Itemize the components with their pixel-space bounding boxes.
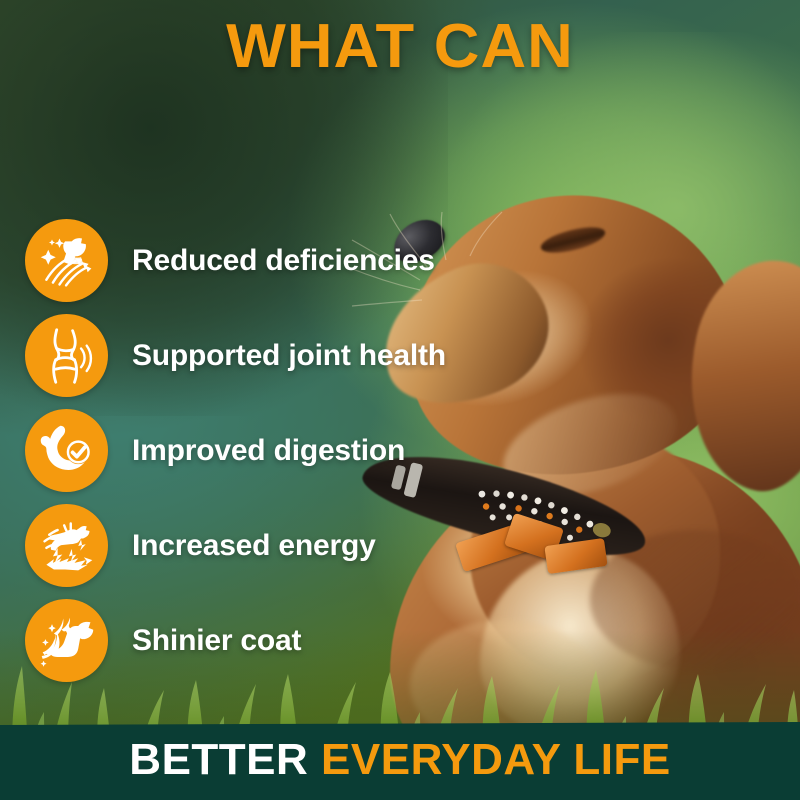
benefit-label: Reduced deficiencies: [132, 244, 435, 278]
benefit-badge: [25, 314, 108, 397]
knee-joint-bone-icon: [37, 326, 97, 386]
benefit-row[interactable]: Supported joint health: [25, 308, 545, 403]
benefit-badge: [25, 409, 108, 492]
benefit-badge: [25, 599, 108, 682]
dog-head-upward-arrows-sparkles-icon: [37, 231, 97, 291]
stomach-checkmark-icon: [37, 421, 97, 481]
banner-text-better: BETTER: [129, 735, 308, 784]
dog-shiny-fur-sparkles-icon: [37, 611, 97, 671]
benefit-row[interactable]: Shinier coat: [25, 593, 545, 688]
benefit-label: Improved digestion: [132, 434, 405, 468]
benefit-label: Increased energy: [132, 529, 376, 563]
poster-canvas: WHAT CAN: [0, 0, 800, 800]
bottom-banner: BETTER EVERYDAY LIFE: [0, 722, 800, 800]
banner-text: BETTER EVERYDAY LIFE: [129, 738, 670, 782]
benefit-badge: [25, 219, 108, 302]
benefits-list: Reduced deficiencies: [25, 213, 545, 688]
running-dog-lightning-icon: [37, 516, 97, 576]
benefit-row[interactable]: Increased energy: [25, 498, 545, 593]
benefit-label: Supported joint health: [132, 339, 446, 373]
benefit-label: Shinier coat: [132, 624, 301, 658]
benefit-row[interactable]: Reduced deficiencies: [25, 213, 545, 308]
benefit-badge: [25, 504, 108, 587]
banner-text-everyday-life: EVERYDAY LIFE: [321, 735, 671, 784]
benefit-row[interactable]: Improved digestion: [25, 403, 545, 498]
